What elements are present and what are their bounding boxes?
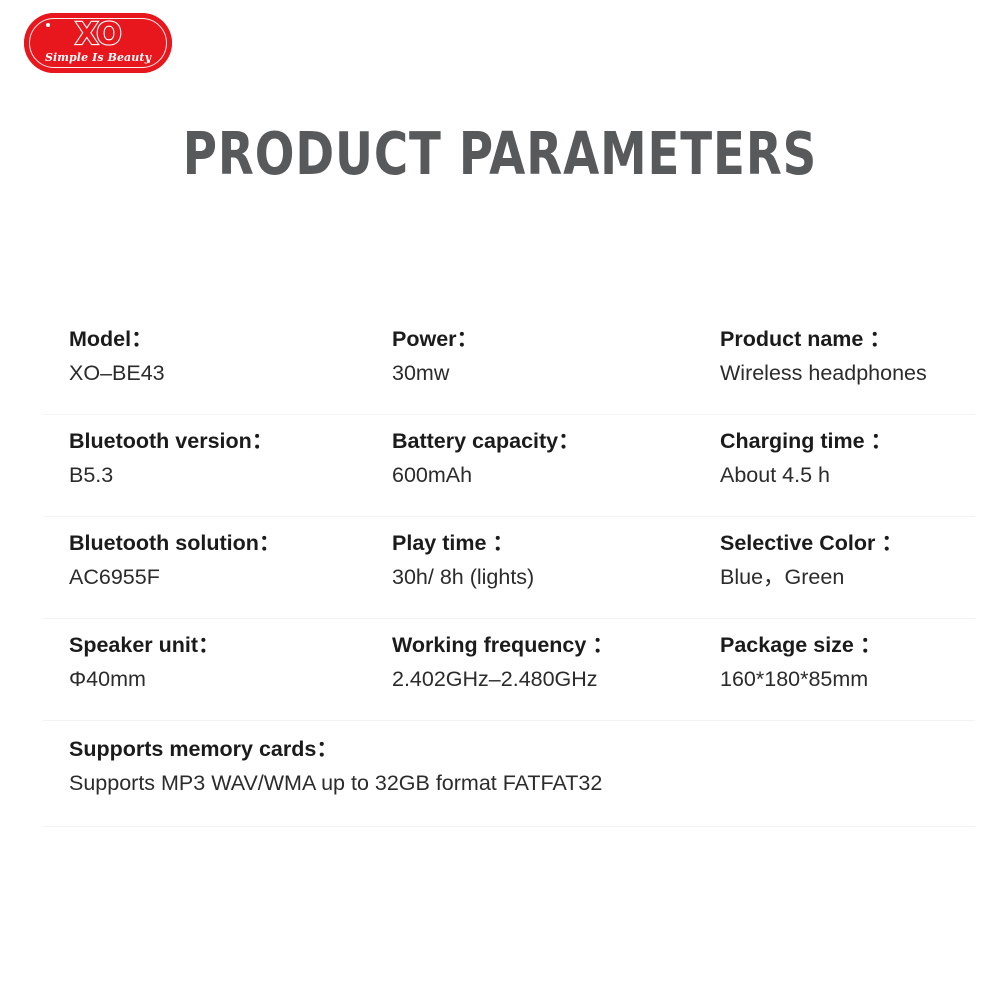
table-row: Speaker unit： Φ40mm Working frequency ： … [43,619,975,721]
spec-label: Supports memory cards： [69,732,975,766]
spec-value: 160*180*85mm [720,662,975,697]
spec-label: Package size ： [720,628,975,662]
spec-cell-memory-cards: Supports memory cards： Supports MP3 WAV/… [43,732,975,801]
spec-value: 600mAh [392,458,720,493]
spec-cell-selective-color: Selective Color ： Blue，Green [720,526,975,595]
page-title: PRODUCT PARAMETERS [60,118,940,190]
product-parameters-page: XO Simple Is Beauty PRODUCT PARAMETERS M… [0,0,1000,1000]
spec-cell-battery-capacity: Battery capacity： 600mAh [392,424,720,493]
spec-value: XO–BE43 [69,356,392,391]
spec-cell-speaker-unit: Speaker unit： Φ40mm [43,628,392,697]
spec-label: Charging time ： [720,424,975,458]
spec-value: B5.3 [69,458,392,493]
spec-label: Play time ： [392,526,720,560]
spec-label: Working frequency ： [392,628,720,662]
spec-label: Product name ： [720,322,975,356]
spec-label: Bluetooth solution： [69,526,392,560]
spec-value: Wireless headphones [720,356,975,391]
spec-cell-charging-time: Charging time ： About 4.5 h [720,424,975,493]
logo-tagline: Simple Is Beauty [24,52,172,64]
spec-label: Selective Color ： [720,526,975,560]
spec-value: 30mw [392,356,720,391]
spec-value: 2.402GHz–2.480GHz [392,662,720,697]
table-row: Supports memory cards： Supports MP3 WAV/… [43,721,975,827]
spec-cell-bluetooth-version: Bluetooth version： B5.3 [43,424,392,493]
spec-cell-model: Model： XO–BE43 [43,322,392,391]
logo-wordmark: XO [24,20,172,50]
brand-logo: XO Simple Is Beauty [24,13,172,73]
spec-value: About 4.5 h [720,458,975,493]
spec-cell-package-size: Package size ： 160*180*85mm [720,628,975,697]
spec-cell-play-time: Play time ： 30h/ 8h (lights) [392,526,720,595]
spec-label: Model： [69,322,392,356]
table-row: Model： XO–BE43 Power： 30mw Product name … [43,322,975,415]
spec-label: Power： [392,322,720,356]
spec-value: 30h/ 8h (lights) [392,560,720,595]
table-row: Bluetooth version： B5.3 Battery capacity… [43,415,975,517]
spec-value: Supports MP3 WAV/WMA up to 32GB format F… [69,766,975,801]
spec-cell-bluetooth-solution: Bluetooth solution： AC6955F [43,526,392,595]
spec-cell-product-name: Product name ： Wireless headphones [720,322,975,391]
spec-label: Speaker unit： [69,628,392,662]
spec-label: Bluetooth version： [69,424,392,458]
spec-value: Blue，Green [720,560,975,595]
specs-table: Model： XO–BE43 Power： 30mw Product name … [43,322,975,827]
spec-value: AC6955F [69,560,392,595]
spec-label: Battery capacity： [392,424,720,458]
spec-cell-power: Power： 30mw [392,322,720,391]
spec-cell-working-frequency: Working frequency ： 2.402GHz–2.480GHz [392,628,720,697]
spec-value: Φ40mm [69,662,392,697]
table-row: Bluetooth solution： AC6955F Play time ： … [43,517,975,619]
